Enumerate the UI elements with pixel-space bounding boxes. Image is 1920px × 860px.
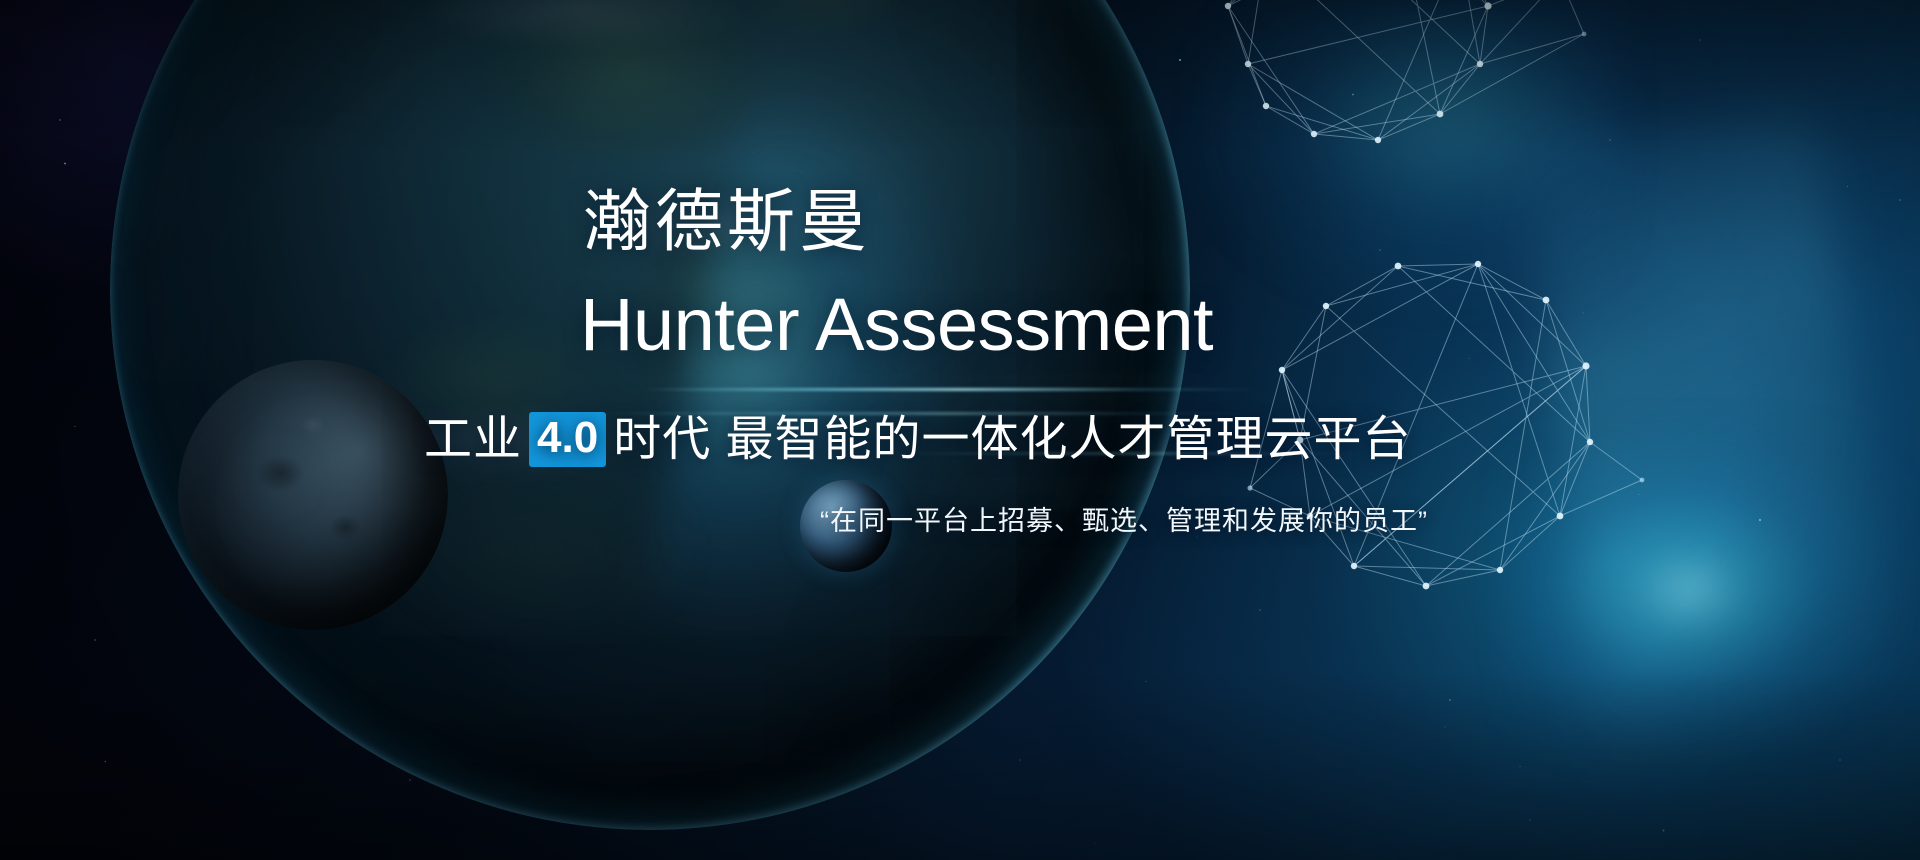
hero-banner: 瀚德斯曼 Hunter Assessment 工业 4.0 时代 最智能的一体化… — [0, 0, 1920, 860]
vignette-overlay — [0, 0, 1920, 860]
